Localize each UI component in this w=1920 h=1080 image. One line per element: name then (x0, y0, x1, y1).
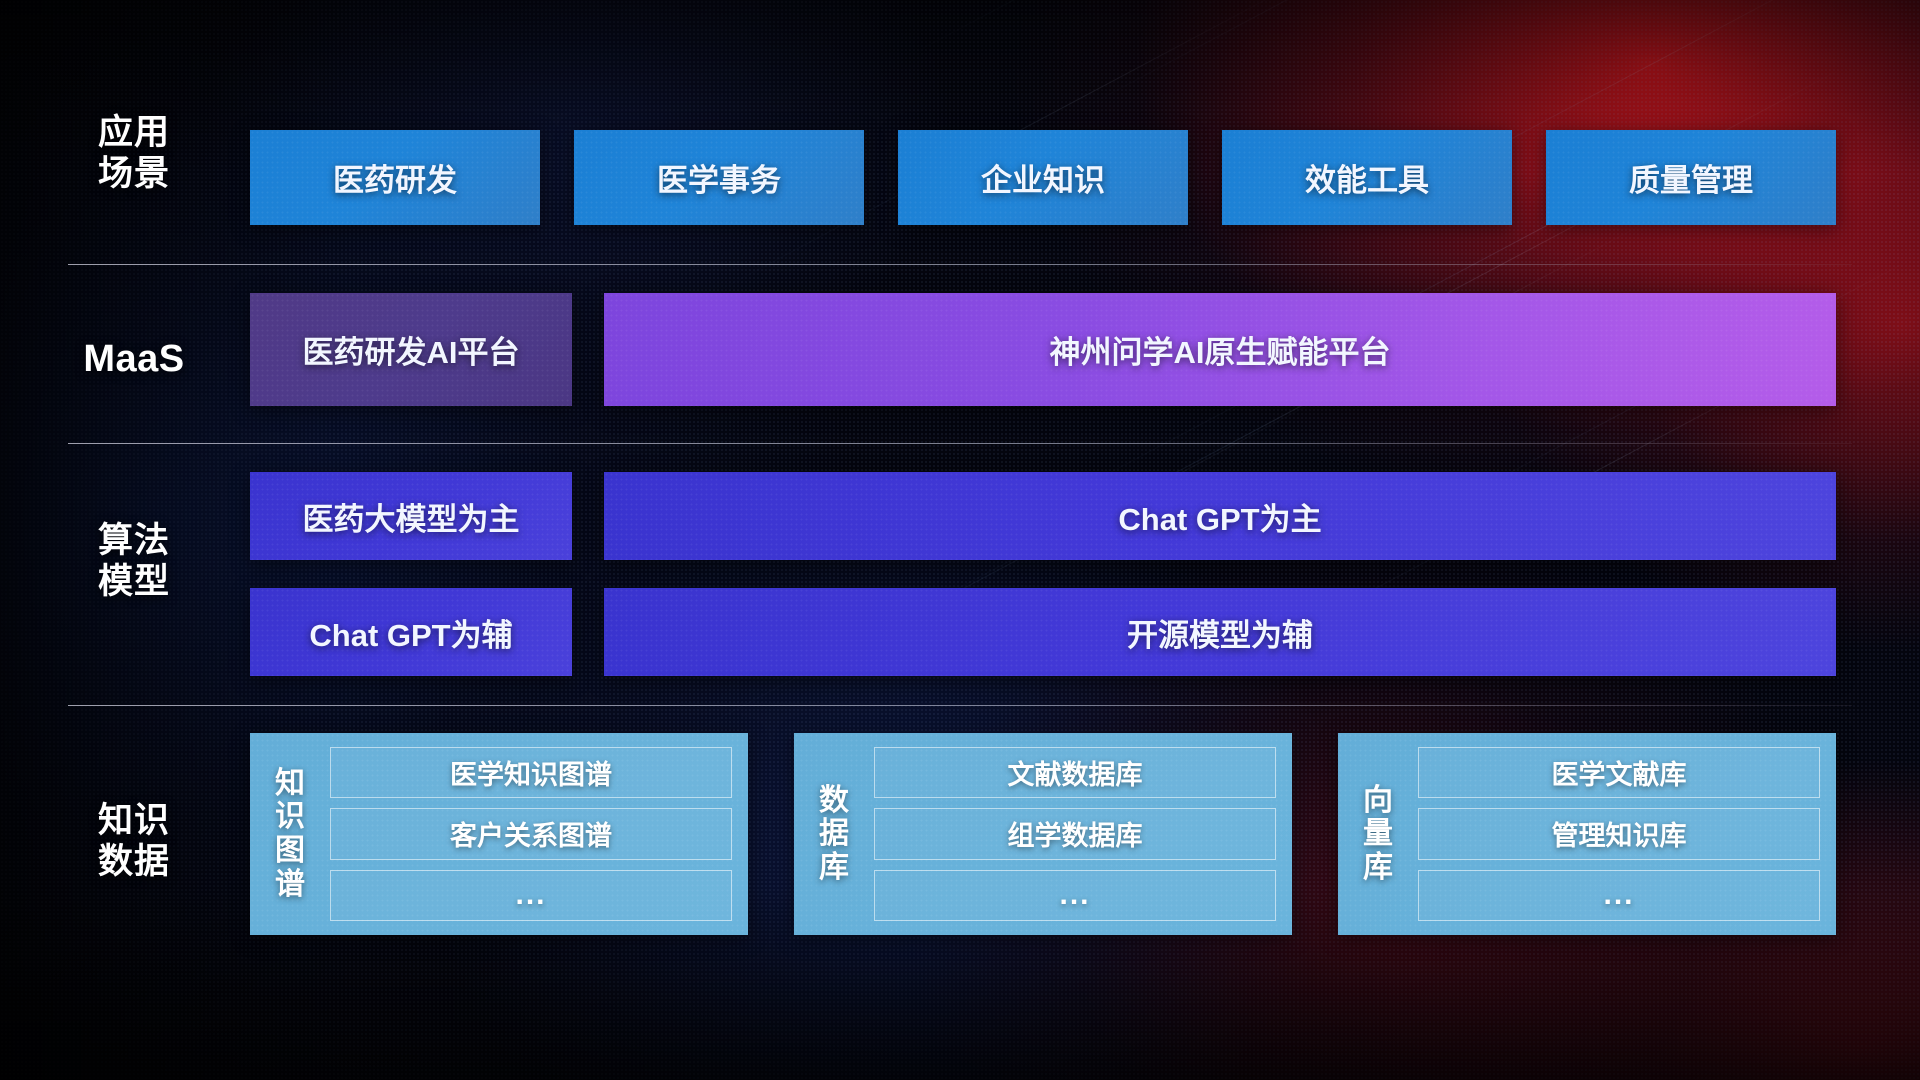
title-char: 知 (275, 767, 305, 801)
row-label-line: 数据 (68, 841, 200, 882)
maas-box-shenzhou-platform[interactable]: 神州问学AI原生赋能平台 (604, 293, 1836, 406)
row-label-line: 知识 (68, 800, 200, 841)
title-char: 库 (819, 851, 849, 885)
knowledge-item[interactable]: 文献数据库 (874, 747, 1276, 798)
maas-box-label: 医药研发AI平台 (303, 327, 520, 372)
title-char: 图 (275, 834, 305, 868)
knowledge-item[interactable]: 组学数据库 (874, 808, 1276, 859)
app-box-label: 医药研发 (333, 155, 457, 200)
algo-box-label: 医药大模型为主 (303, 494, 520, 539)
title-char: 数 (819, 784, 849, 818)
knowledge-item[interactable]: 管理知识库 (1418, 808, 1820, 859)
algo-box-opensource-secondary[interactable]: 开源模型为辅 (604, 588, 1836, 676)
row-label-line: 算法 (68, 520, 200, 561)
app-box-1[interactable]: 医药研发 (250, 130, 540, 225)
knowledge-item[interactable]: 医学知识图谱 (330, 747, 732, 798)
app-box-label: 企业知识 (981, 155, 1105, 200)
title-char: 向 (1363, 784, 1393, 818)
divider-1 (68, 264, 1852, 265)
knowledge-panel-items: 医学文献库 管理知识库 ... (1418, 747, 1820, 921)
row-label-algorithm-model: 算法 模型 (68, 520, 200, 603)
row-label-line: 场景 (68, 153, 200, 194)
algo-box-chatgpt-primary[interactable]: Chat GPT为主 (604, 472, 1836, 560)
architecture-diagram: 应用 场景 医药研发 医学事务 企业知识 效能工具 质量管理 MaaS 医药研发… (0, 0, 1920, 1080)
app-box-2[interactable]: 医学事务 (574, 130, 864, 225)
algo-box-label: 开源模型为辅 (1127, 610, 1313, 655)
title-char: 量 (1363, 817, 1393, 851)
knowledge-item[interactable]: 医学文献库 (1418, 747, 1820, 798)
knowledge-item-more[interactable]: ... (330, 870, 732, 921)
algo-box-drug-model-primary[interactable]: 医药大模型为主 (250, 472, 572, 560)
row-label-application-scenario: 应用 场景 (68, 112, 200, 195)
app-box-label: 医学事务 (657, 155, 781, 200)
knowledge-panel-title: 数 据 库 (810, 747, 858, 921)
maas-box-label: 神州问学AI原生赋能平台 (1050, 327, 1391, 372)
knowledge-panel-database[interactable]: 数 据 库 文献数据库 组学数据库 ... (794, 733, 1292, 935)
algo-box-label: Chat GPT为主 (1118, 494, 1321, 539)
title-char: 据 (819, 817, 849, 851)
title-char: 识 (275, 800, 305, 834)
row-label-line: 模型 (68, 561, 200, 602)
knowledge-item[interactable]: 客户关系图谱 (330, 808, 732, 859)
row-label-line: 应用 (68, 112, 200, 153)
divider-2 (68, 443, 1852, 444)
knowledge-panel-items: 文献数据库 组学数据库 ... (874, 747, 1276, 921)
row-label-maas: MaaS (68, 337, 200, 382)
knowledge-item-more[interactable]: ... (874, 870, 1276, 921)
knowledge-panel-items: 医学知识图谱 客户关系图谱 ... (330, 747, 732, 921)
divider-3 (68, 705, 1852, 706)
maas-box-drug-rd-platform[interactable]: 医药研发AI平台 (250, 293, 572, 406)
knowledge-panel-title: 知 识 图 谱 (266, 747, 314, 921)
app-box-label: 效能工具 (1305, 155, 1429, 200)
title-char: 库 (1363, 851, 1393, 885)
app-box-5[interactable]: 质量管理 (1546, 130, 1836, 225)
title-char: 谱 (275, 868, 305, 902)
row-label-knowledge-data: 知识 数据 (68, 800, 200, 883)
knowledge-item-more[interactable]: ... (1418, 870, 1820, 921)
algo-box-chatgpt-secondary[interactable]: Chat GPT为辅 (250, 588, 572, 676)
app-box-label: 质量管理 (1629, 155, 1753, 200)
app-box-3[interactable]: 企业知识 (898, 130, 1188, 225)
knowledge-panel-title: 向 量 库 (1354, 747, 1402, 921)
row-label-line: MaaS (68, 337, 200, 382)
knowledge-panel-vector[interactable]: 向 量 库 医学文献库 管理知识库 ... (1338, 733, 1836, 935)
algo-box-label: Chat GPT为辅 (309, 610, 512, 655)
knowledge-panel-graph[interactable]: 知 识 图 谱 医学知识图谱 客户关系图谱 ... (250, 733, 748, 935)
app-box-4[interactable]: 效能工具 (1222, 130, 1512, 225)
